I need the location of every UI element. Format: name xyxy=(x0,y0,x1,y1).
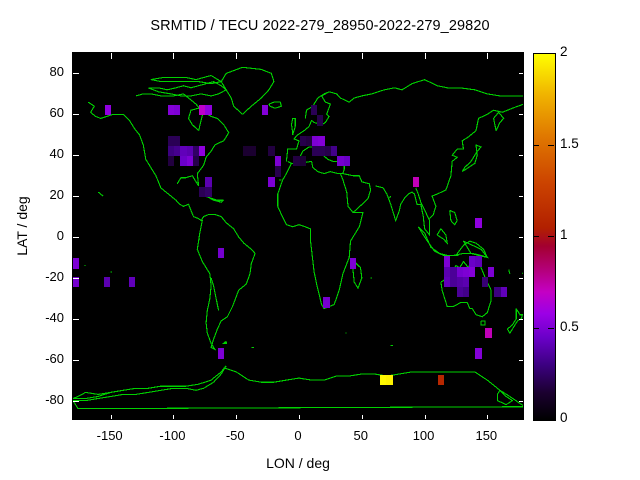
y-tick-mark xyxy=(519,360,524,361)
y-tick-label: -80 xyxy=(20,392,64,407)
x-tick-label: -50 xyxy=(205,428,265,443)
colorbar-tick-mark xyxy=(533,419,539,420)
colorbar-tick-label: 1 xyxy=(560,227,600,242)
x-tick-label: 150 xyxy=(456,428,516,443)
colorbar-tick-mark xyxy=(533,53,539,54)
x-tick-mark xyxy=(487,415,488,420)
colorbar-tick-mark xyxy=(533,328,539,329)
x-tick-mark xyxy=(299,53,300,59)
x-tick-mark xyxy=(173,53,174,59)
x-tick-mark xyxy=(487,53,488,59)
x-tick-label: 0 xyxy=(268,428,328,443)
y-tick-mark xyxy=(519,319,524,320)
colorbar-tick-mark xyxy=(548,419,554,420)
axis-tickmarks-layer xyxy=(73,53,523,419)
y-tick-mark xyxy=(73,73,79,74)
y-axis-title: LAT / deg xyxy=(14,166,30,286)
x-tick-mark xyxy=(299,415,300,420)
x-tick-mark xyxy=(236,53,237,59)
y-tick-mark xyxy=(519,401,524,402)
x-tick-label: -150 xyxy=(80,428,140,443)
y-tick-mark xyxy=(73,278,79,279)
colorbar-gradient xyxy=(534,54,555,420)
colorbar-tick-mark xyxy=(548,53,554,54)
y-tick-mark xyxy=(519,155,524,156)
colorbar-tick-label: 2 xyxy=(560,44,600,59)
y-tick-label: -40 xyxy=(20,310,64,325)
colorbar-tick-mark xyxy=(548,236,554,237)
x-tick-label: 100 xyxy=(394,428,454,443)
colorbar-tick-mark xyxy=(533,145,539,146)
x-tick-mark xyxy=(111,53,112,59)
colorbar-tick-label: 0.5 xyxy=(560,319,600,334)
x-tick-mark xyxy=(425,415,426,420)
y-tick-label: 60 xyxy=(20,105,64,120)
y-tick-mark xyxy=(73,114,79,115)
y-tick-mark xyxy=(73,360,79,361)
colorbar-tick-mark xyxy=(533,236,539,237)
x-axis-title: LON / deg xyxy=(0,455,596,471)
colorbar xyxy=(533,53,556,421)
y-tick-mark xyxy=(73,401,79,402)
y-tick-label: -60 xyxy=(20,351,64,366)
y-tick-mark xyxy=(73,196,79,197)
x-tick-mark xyxy=(425,53,426,59)
x-tick-mark xyxy=(362,53,363,59)
x-tick-label: -100 xyxy=(142,428,202,443)
y-tick-mark xyxy=(73,237,79,238)
y-tick-mark xyxy=(519,237,524,238)
colorbar-tick-label: 0 xyxy=(560,410,600,425)
colorbar-tick-mark xyxy=(548,328,554,329)
colorbar-tick-mark xyxy=(548,145,554,146)
x-tick-mark xyxy=(362,415,363,420)
y-tick-mark xyxy=(519,73,524,74)
y-tick-mark xyxy=(519,114,524,115)
y-tick-mark xyxy=(73,155,79,156)
y-tick-mark xyxy=(519,278,524,279)
x-tick-label: 50 xyxy=(331,428,391,443)
y-tick-mark xyxy=(73,319,79,320)
x-tick-mark xyxy=(111,415,112,420)
y-tick-label: 40 xyxy=(20,146,64,161)
figure-root: SRMTID / TECU 2022-279_28950-2022-279_29… xyxy=(0,0,640,480)
colorbar-tick-label: 1.5 xyxy=(560,136,600,151)
chart-title: SRMTID / TECU 2022-279_28950-2022-279_29… xyxy=(0,18,640,34)
x-tick-mark xyxy=(236,415,237,420)
map-plot-area xyxy=(72,52,524,420)
y-tick-label: 80 xyxy=(20,64,64,79)
x-tick-mark xyxy=(173,415,174,420)
y-tick-mark xyxy=(519,196,524,197)
